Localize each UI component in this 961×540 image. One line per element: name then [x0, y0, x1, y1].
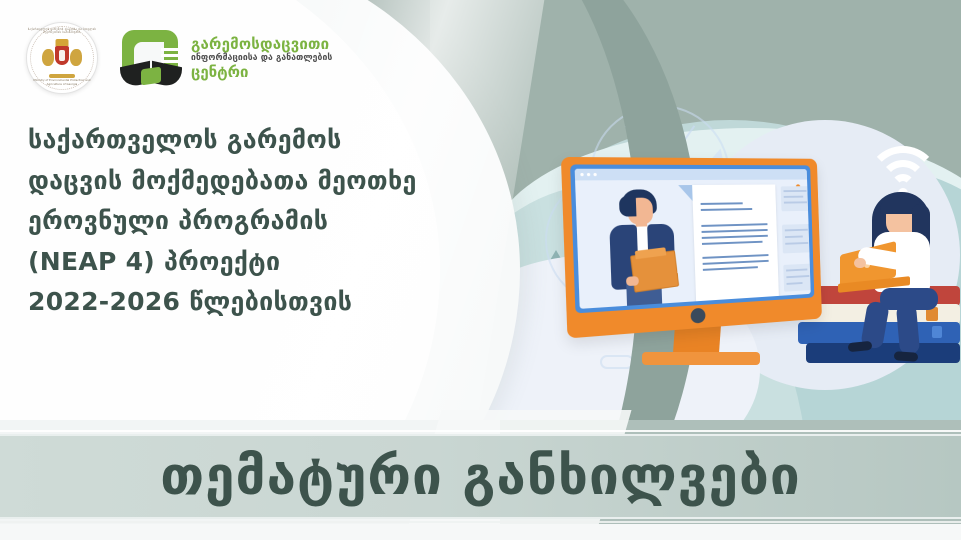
woman-shin-right — [896, 303, 920, 355]
seal-arc-text: საქართველოს გარემოს დაცვისა და სოფლის მე… — [27, 28, 97, 34]
coat-of-arms-icon — [41, 38, 83, 78]
document-text-line — [703, 266, 758, 271]
lion-icon-left — [42, 49, 54, 66]
document-text-line — [702, 254, 768, 259]
document-text-line — [702, 241, 763, 245]
poster-slide: საქართველოს გარემოს დაცვისა და სოფლის მე… — [0, 0, 961, 540]
presenter-man — [602, 189, 685, 309]
document-text-line — [701, 208, 752, 211]
man-hair-side — [619, 196, 637, 217]
eiec-line-3: ცენტრი — [191, 64, 332, 80]
eiec-logo-text: გარემოსდაცვითი ინფორმაციისა და განათლები… — [191, 36, 332, 81]
woman-with-laptop — [836, 192, 961, 367]
window-dot-icon — [580, 173, 583, 176]
headline-line-2: დაცვის მოქმედებათა მეოთხე — [28, 161, 428, 202]
sidebar-card — [782, 224, 811, 254]
banner-hairline-bottom — [0, 521, 961, 523]
lion-icon-right — [70, 49, 82, 66]
eiec-line-1: გარემოსდაცვითი — [191, 36, 332, 52]
eiec-bar — [161, 54, 178, 57]
crown-icon — [56, 39, 69, 46]
man-hand — [626, 276, 639, 286]
document-text-line — [702, 229, 768, 233]
shield-icon — [55, 46, 69, 65]
document-page — [692, 184, 779, 305]
window-dot-icon — [587, 173, 590, 176]
orange-folder-icon — [630, 250, 679, 293]
headline-line-4: (NEAP 4) პროექტი — [28, 242, 428, 283]
document-text-line — [701, 223, 767, 227]
browser-window — [575, 169, 811, 309]
bottom-banner: თემატური განხილვები — [0, 420, 961, 540]
online-meeting-illustration — [560, 140, 961, 430]
desktop-monitor — [570, 158, 840, 378]
window-dot-icon — [593, 173, 596, 176]
logo-bar: საქართველოს გარემოს დაცვისა და სოფლის მე… — [26, 22, 332, 94]
eiec-logo: გარემოსდაცვითი ინფორმაციისა და განათლები… — [120, 28, 332, 88]
headline-block: საქართველოს გარემოს დაცვის მოქმედებათა მ… — [28, 120, 428, 323]
browser-titlebar — [575, 169, 807, 181]
woman-hand — [854, 258, 866, 268]
eiec-page — [141, 67, 161, 86]
banner-hairline-top — [0, 430, 961, 432]
monitor-stand-base — [642, 352, 760, 365]
sidebar-card — [783, 263, 811, 291]
ministry-seal: საქართველოს გარემოს დაცვისა და სოფლის მე… — [26, 22, 98, 94]
monitor-power-knob — [690, 308, 705, 324]
headline-line-3: ეროვნული პროგრამის — [28, 201, 428, 242]
eiec-line-2: ინფორმაციისა და განათლების — [191, 54, 332, 63]
headline-line-5: 2022-2026 წლებისთვის — [28, 282, 428, 323]
monitor-screen — [570, 164, 814, 313]
document-fold-corner — [678, 185, 692, 201]
eiec-book-mark-icon — [120, 28, 182, 88]
sidebar-card — [781, 186, 811, 211]
document-text-line — [702, 235, 768, 239]
woman-shoe-right — [894, 351, 919, 362]
banner-title: თემატური განხილვები — [0, 434, 961, 519]
monitor-body — [561, 157, 822, 339]
woman-shoe-left — [848, 341, 873, 352]
arms-base — [49, 74, 75, 78]
headline-line-1: საქართველოს გარემოს — [28, 120, 428, 161]
seal-micro-text: Ministry of Environmental Protection and… — [27, 79, 97, 86]
document-text-line — [701, 202, 743, 205]
banner-bottom-strip — [0, 524, 961, 540]
eiec-bar — [161, 48, 178, 51]
document-text-line — [703, 260, 769, 265]
